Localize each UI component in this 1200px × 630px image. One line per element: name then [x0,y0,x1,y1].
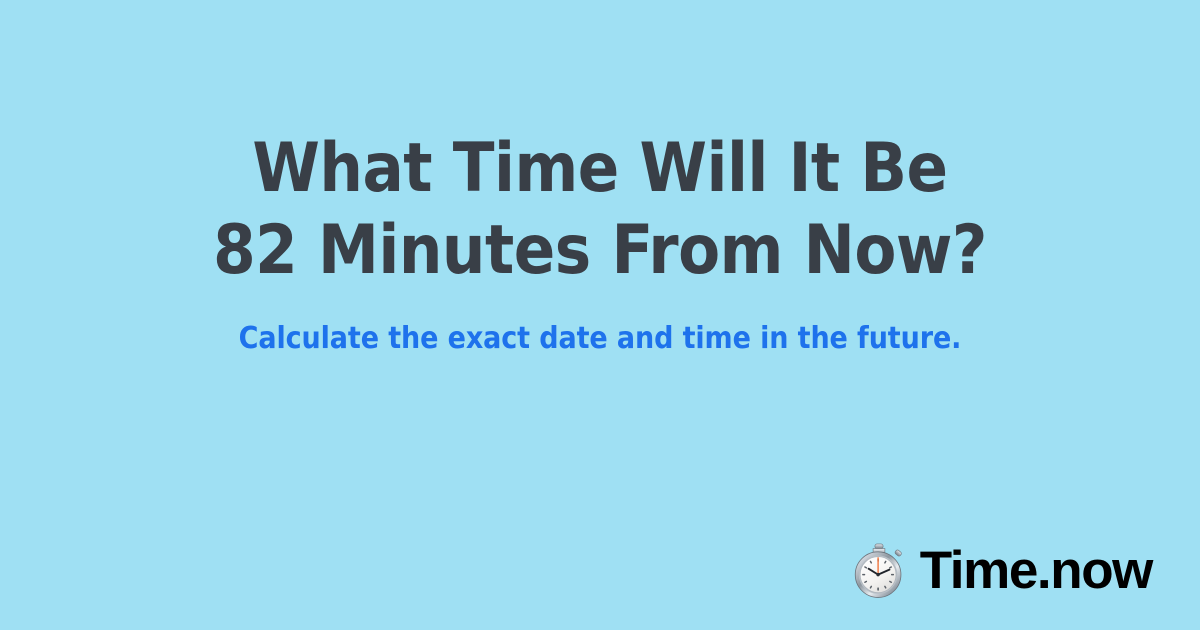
page-subtitle: Calculate the exact date and time in the… [0,320,1200,358]
page-title: What Time Will It Be 82 Minutes From Now… [0,128,1200,292]
brand-name: Time.now [920,542,1152,600]
stopwatch-icon [850,542,908,600]
brand-lockup[interactable]: Time.now [850,542,1152,600]
hero-section: What Time Will It Be 82 Minutes From Now… [0,128,1200,358]
social-card: What Time Will It Be 82 Minutes From Now… [0,0,1200,630]
